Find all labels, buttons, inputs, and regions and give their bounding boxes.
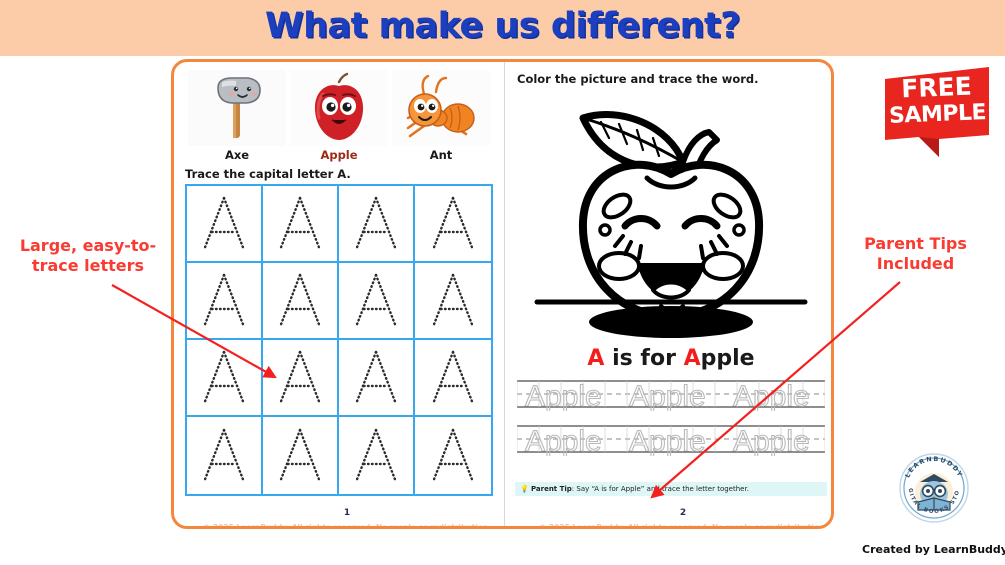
- parent-tip-label: Parent Tip: [531, 485, 572, 493]
- dotted-letter-a: [350, 270, 402, 332]
- page-number-right: 2: [517, 508, 834, 518]
- trace-word-line-2: AppleAppleApple: [517, 422, 825, 461]
- trace-cell[interactable]: [415, 340, 491, 417]
- dotted-letter-a: [198, 347, 250, 409]
- picture-label-ant: Ant: [392, 148, 490, 162]
- picture-label-apple: Apple: [290, 148, 388, 162]
- trace-cell[interactable]: [187, 263, 263, 340]
- trace-word[interactable]: Apple: [525, 425, 602, 456]
- color-instruction: Color the picture and trace the word.: [517, 72, 825, 86]
- trace-word[interactable]: Apple: [629, 380, 706, 411]
- apple-illustration: [290, 70, 388, 146]
- trace-cell[interactable]: [339, 186, 415, 263]
- trace-cell[interactable]: [187, 186, 263, 263]
- trace-cell[interactable]: [415, 263, 491, 340]
- worksheet-spread: Axe: [171, 59, 834, 529]
- dotted-letter-a: [198, 193, 250, 255]
- dotted-letter-a: [198, 425, 250, 487]
- page-title: What make us different?: [0, 6, 1005, 46]
- trace-cell[interactable]: [415, 417, 491, 494]
- badge-line-2: SAMPLE: [881, 102, 994, 128]
- picture-row: Axe: [182, 70, 496, 162]
- dotted-letter-a: [427, 270, 479, 332]
- worksheet-page-right: Color the picture and trace the word.: [505, 62, 834, 529]
- trace-word-line-1: AppleAppleApple: [517, 377, 825, 416]
- page-number-left: 1: [182, 508, 512, 518]
- caption-word-initial: A: [684, 346, 701, 371]
- annotation-right-line2: Included: [833, 254, 998, 274]
- free-sample-badge-text: FREE SAMPLE: [880, 73, 994, 128]
- dotted-letter-a: [274, 425, 326, 487]
- trace-word[interactable]: Apple: [525, 380, 602, 411]
- annotation-left-line2: trace letters: [8, 256, 168, 276]
- trace-word[interactable]: Apple: [733, 380, 810, 411]
- dotted-letter-a: [427, 425, 479, 487]
- badge-line-1: FREE: [880, 73, 993, 102]
- annotation-right: Parent Tips Included: [833, 234, 998, 274]
- parent-tip-text: Say “A is for Apple” and trace the lette…: [576, 485, 749, 493]
- trace-word[interactable]: Apple: [629, 425, 706, 456]
- dotted-letter-a: [350, 347, 402, 409]
- picture-cell-ant: Ant: [392, 70, 490, 162]
- trace-cell[interactable]: [339, 417, 415, 494]
- trace-instruction: Trace the capital letter A.: [185, 167, 496, 181]
- trace-cell[interactable]: [263, 340, 339, 417]
- free-sample-badge: FREE SAMPLE: [881, 65, 993, 161]
- annotation-left-line1: Large, easy-to-: [8, 236, 168, 256]
- a-is-for-caption: A is for Apple: [517, 346, 825, 371]
- apple-coloring-illustration: [517, 88, 825, 350]
- trace-cell[interactable]: [339, 263, 415, 340]
- caption-is-for: is for: [604, 346, 683, 371]
- trace-grid: [185, 184, 493, 496]
- worksheet-page-left: Axe: [174, 62, 504, 529]
- dotted-letter-a: [350, 425, 402, 487]
- trace-cell[interactable]: [187, 340, 263, 417]
- trace-cell[interactable]: [415, 186, 491, 263]
- trace-cell[interactable]: [187, 417, 263, 494]
- page-footnote-right: © 2025 LearnBuddy. All rights reserved. …: [517, 523, 834, 529]
- trace-cell[interactable]: [263, 263, 339, 340]
- learnbuddy-logo: LEARNBUDDY DIGITAL BOOKS STORE: [898, 452, 970, 524]
- picture-label-axe: Axe: [188, 148, 286, 162]
- caption-word-rest: pple: [701, 346, 755, 371]
- annotation-left: Large, easy-to- trace letters: [8, 236, 168, 276]
- lightbulb-icon: 💡: [520, 485, 529, 493]
- parent-tip-bar: 💡 Parent Tip: Say “A is for Apple” and t…: [515, 482, 827, 496]
- dotted-letter-a: [274, 270, 326, 332]
- caption-letter-a: A: [587, 346, 604, 371]
- picture-cell-axe: Axe: [188, 70, 286, 162]
- dotted-letter-a: [274, 347, 326, 409]
- axe-illustration: [188, 70, 286, 146]
- dotted-letter-a: [427, 193, 479, 255]
- trace-cell[interactable]: [339, 340, 415, 417]
- dotted-letter-a: [274, 193, 326, 255]
- picture-cell-apple: Apple: [290, 70, 388, 162]
- dotted-letter-a: [427, 347, 479, 409]
- dotted-letter-a: [198, 270, 250, 332]
- trace-word[interactable]: Apple: [733, 425, 810, 456]
- page-footnote-left: © 2025 LearnBuddy. All rights reserved. …: [182, 523, 512, 529]
- dotted-letter-a: [350, 193, 402, 255]
- trace-cell[interactable]: [263, 417, 339, 494]
- trace-cell[interactable]: [263, 186, 339, 263]
- brand-caption: Created by LearnBuddy: [860, 543, 1005, 556]
- annotation-right-line1: Parent Tips: [833, 234, 998, 254]
- ant-illustration: [392, 70, 490, 146]
